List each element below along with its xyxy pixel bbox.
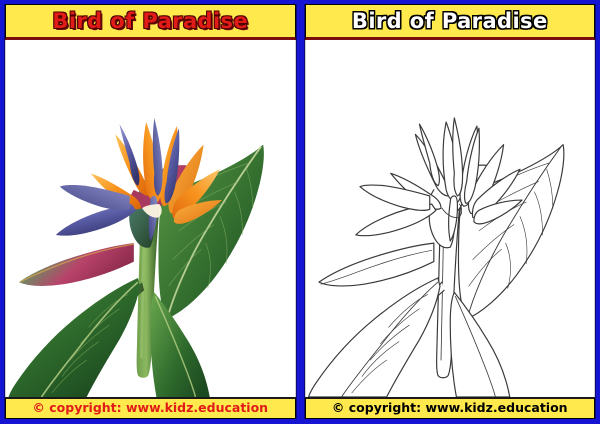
colored-panel: Bird of Paradise [4,4,297,419]
colored-artwork-canvas [5,40,296,397]
leaf-lower-left [9,278,140,397]
bird-of-paradise-outline-illustration [306,40,595,397]
outline-artwork-canvas [305,40,596,397]
page-title-outline: Bird of Paradise [352,11,548,32]
outline-leaf-lower-left [308,278,439,397]
colored-panel-title-bar: Bird of Paradise [5,4,296,40]
outline-petal-2 [452,118,462,196]
copyright-notice: © copyright: www.kidz.education [32,402,268,415]
page-title: Bird of Paradise [52,11,248,32]
copyright-notice-outline: © copyright: www.kidz.education [332,402,568,415]
worksheet-page: Bird of Paradise [0,0,600,424]
petal-purple-2 [153,118,163,196]
leaf-upper-left [19,243,134,286]
colored-panel-footer-bar: © copyright: www.kidz.education [5,397,296,419]
outline-panel: Bird of Paradise [304,4,597,419]
bird-of-paradise-colored-illustration [6,40,295,397]
outline-panel-title-bar: Bird of Paradise [305,4,596,40]
outline-panel-footer-bar: © copyright: www.kidz.education [305,397,596,419]
